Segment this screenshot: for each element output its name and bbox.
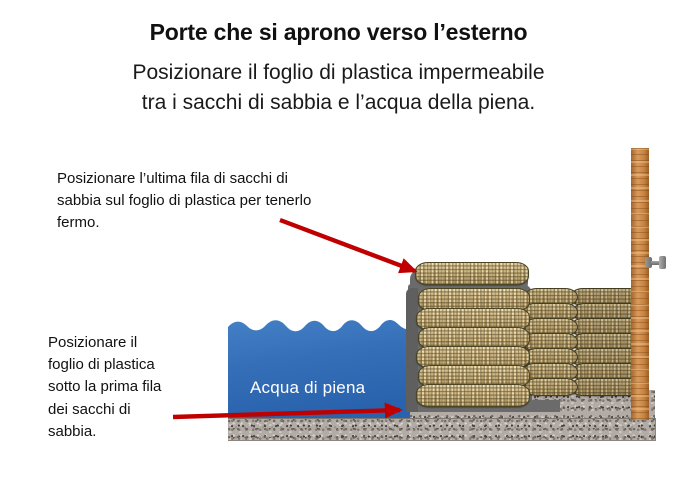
- callout-left-line-5: sabbia.: [48, 421, 223, 443]
- callout-top-text: Posizionare l’ultima fila di sacchi di s…: [57, 168, 417, 235]
- callout-left-line-4: dei sacchi di: [48, 399, 223, 421]
- gravel-ground-lower: [228, 418, 656, 441]
- subtitle-line-1: Posizionare il foglio di plastica imperm…: [48, 58, 629, 88]
- page-title: Porte che si aprono verso l’esterno: [0, 20, 677, 45]
- callout-left-text: Posizionare il foglio di plastica sotto …: [48, 332, 223, 443]
- callout-top-line-2: sabbia sul foglio di plastica per tenerl…: [57, 190, 417, 212]
- callout-left-line-3: sotto la prima fila: [48, 376, 223, 398]
- sandbag-bottom-row: [416, 384, 530, 407]
- page-subtitle: Posizionare il foglio di plastica imperm…: [48, 58, 629, 118]
- flood-water: [228, 318, 410, 418]
- knob-cap: [659, 256, 666, 269]
- slide-canvas: Porte che si aprono verso l’esterno Posi…: [0, 0, 677, 482]
- subtitle-line-2: tra i sacchi di sabbia e l’acqua della p…: [48, 88, 629, 118]
- door-knob-icon: [645, 256, 667, 269]
- sandbag: [524, 378, 578, 396]
- callout-left-line-1: Posizionare il: [48, 332, 223, 354]
- callout-top-line-3: fermo.: [57, 212, 417, 234]
- water-label: Acqua di piena: [250, 378, 365, 398]
- wooden-door: [631, 148, 649, 420]
- callout-top-line-1: Posizionare l’ultima fila di sacchi di: [57, 168, 417, 190]
- sandbag-top-row: [415, 262, 529, 285]
- callout-left-line-2: foglio di plastica: [48, 354, 223, 376]
